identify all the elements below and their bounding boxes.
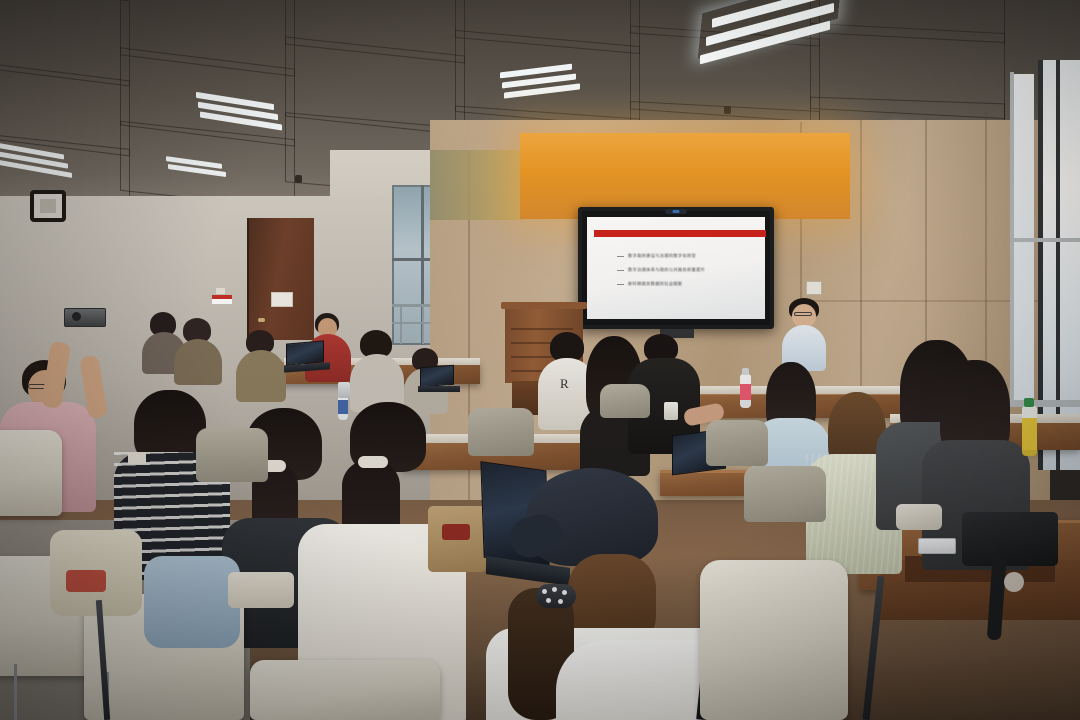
bag-charm-icon	[1004, 572, 1024, 592]
slide-bullet-text: 数字治理体系与政府公共服务质量提升	[628, 267, 705, 273]
chair[interactable]	[744, 466, 826, 522]
chair[interactable]	[0, 430, 62, 516]
presentation-display[interactable]: 数字政府建设与治理的数字化转型 数字治理体系与政府公共服务质量提升 新时期政务数…	[578, 207, 774, 329]
chair[interactable]	[706, 420, 768, 466]
bag-print	[66, 570, 106, 592]
list-item: 数字治理体系与政府公共服务质量提升	[617, 267, 751, 273]
paper	[128, 452, 146, 464]
wall-clock	[30, 190, 66, 222]
slide-bullet-list: 数字政府建设与治理的数字化转型 数字治理体系与政府公共服务质量提升 新时期政务数…	[617, 253, 751, 295]
chair[interactable]	[468, 408, 534, 456]
chair[interactable]	[250, 660, 440, 720]
wall-control-panel	[806, 281, 822, 295]
chair[interactable]	[196, 428, 268, 482]
camera-lens-icon	[72, 312, 81, 321]
bullet-marker-icon	[617, 284, 624, 285]
lecture-room-photo: 数字政府建设与治理的数字化转型 数字治理体系与政府公共服务质量提升 新时期政务数…	[0, 0, 1080, 720]
bullet-marker-icon	[617, 256, 624, 257]
cup	[338, 382, 350, 398]
slide-content: 数字政府建设与治理的数字化转型 数字治理体系与政府公共服务质量提升 新时期政务数…	[587, 217, 765, 319]
cup	[664, 402, 678, 420]
sprinkler-head	[295, 175, 302, 183]
list-item: 数字政府建设与治理的数字化转型	[617, 253, 751, 259]
wall-notice	[216, 288, 225, 294]
bag-logo-icon	[442, 524, 470, 540]
door-handle-icon[interactable]	[258, 318, 265, 322]
wall-accent-left	[430, 150, 525, 220]
juice-bottle-yellow[interactable]	[1022, 406, 1037, 456]
bottle-cap	[742, 368, 749, 375]
tissue-pack	[896, 504, 942, 530]
bottle-cap	[1024, 398, 1034, 407]
list-item: 新时期政务数据的社会赋能	[617, 281, 751, 287]
smartphone-camera[interactable]	[64, 308, 106, 327]
water-bottle-pink[interactable]	[740, 374, 751, 408]
slide-bullet-text: 新时期政务数据的社会赋能	[628, 281, 682, 287]
wall-sign-red	[212, 295, 232, 304]
bullet-marker-icon	[617, 270, 624, 271]
meeting-room-door[interactable]	[247, 218, 314, 340]
smartphone-on-desk[interactable]	[918, 538, 956, 554]
door-sign	[271, 292, 293, 307]
shoulder-bag	[962, 512, 1058, 566]
jacket-on-chair	[144, 556, 240, 648]
glasses-icon	[794, 312, 812, 316]
webcam-icon	[665, 209, 687, 214]
slide-bullet-text: 数字政府建设与治理的数字化转型	[628, 253, 696, 259]
item-on-desk	[228, 572, 294, 608]
hair-tie	[358, 456, 388, 468]
slide-accent-bar	[594, 230, 766, 237]
chair[interactable]	[600, 384, 650, 418]
chair[interactable]	[700, 560, 848, 720]
shirt-letter: R	[560, 376, 569, 392]
sprinkler-head	[724, 106, 731, 114]
